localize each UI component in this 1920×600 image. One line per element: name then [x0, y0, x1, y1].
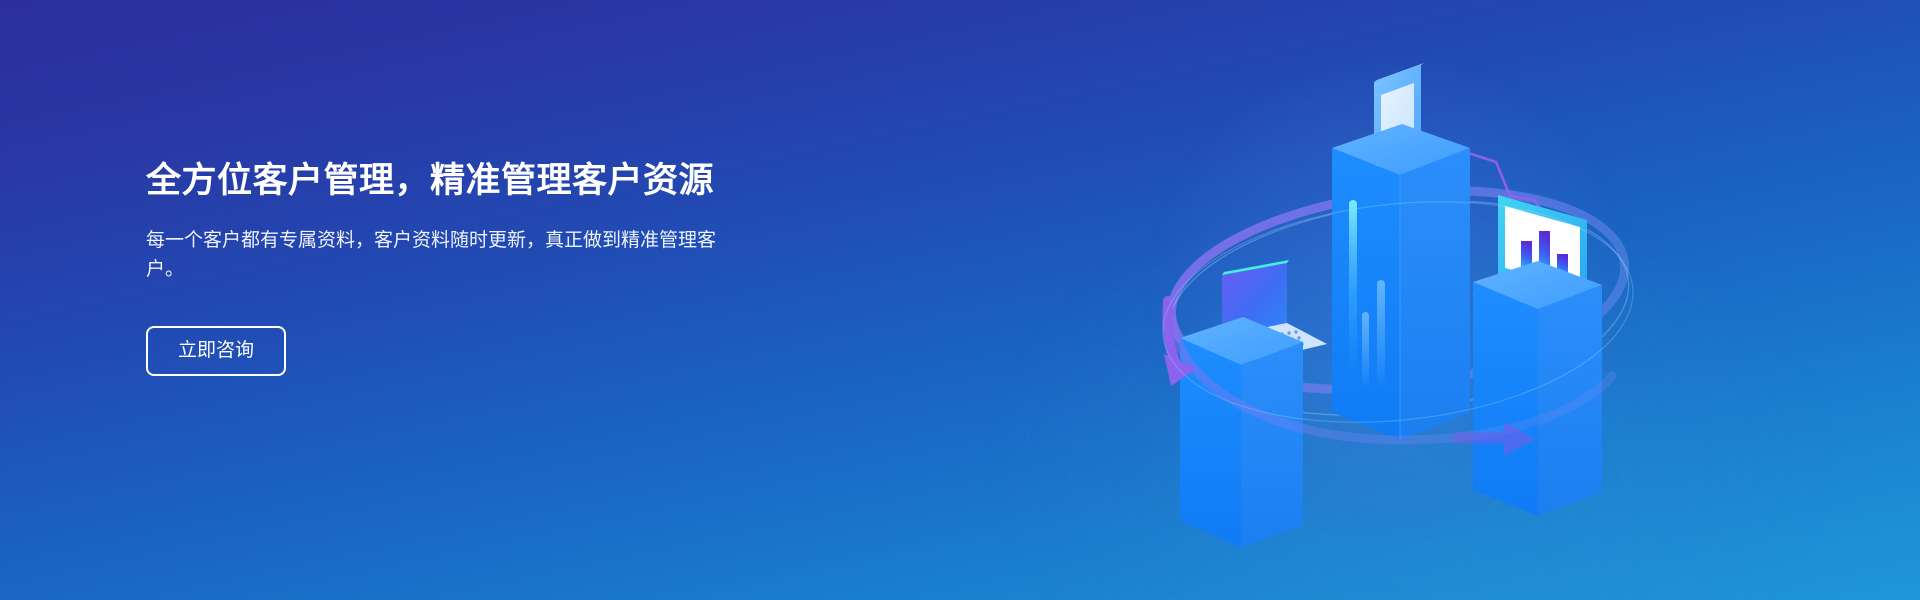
hero-banner: 全方位客户管理，精准管理客户资源 每一个客户都有专属资料，客户资料随时更新，真正…	[0, 0, 1920, 600]
hero-subcopy: 每一个客户都有专属资料，客户资料随时更新，真正做到精准管理客户。	[146, 226, 731, 284]
left-pillar	[1180, 260, 1327, 548]
hero-illustration	[1140, 20, 1660, 600]
right-pillar	[1472, 195, 1602, 516]
center-pillar	[1332, 63, 1470, 440]
hero-copy-block: 全方位客户管理，精准管理客户资源 每一个客户都有专属资料，客户资料随时更新，真正…	[146, 158, 766, 376]
consult-now-button[interactable]: 立即咨询	[146, 326, 286, 376]
hero-headline: 全方位客户管理，精准管理客户资源	[146, 158, 766, 204]
